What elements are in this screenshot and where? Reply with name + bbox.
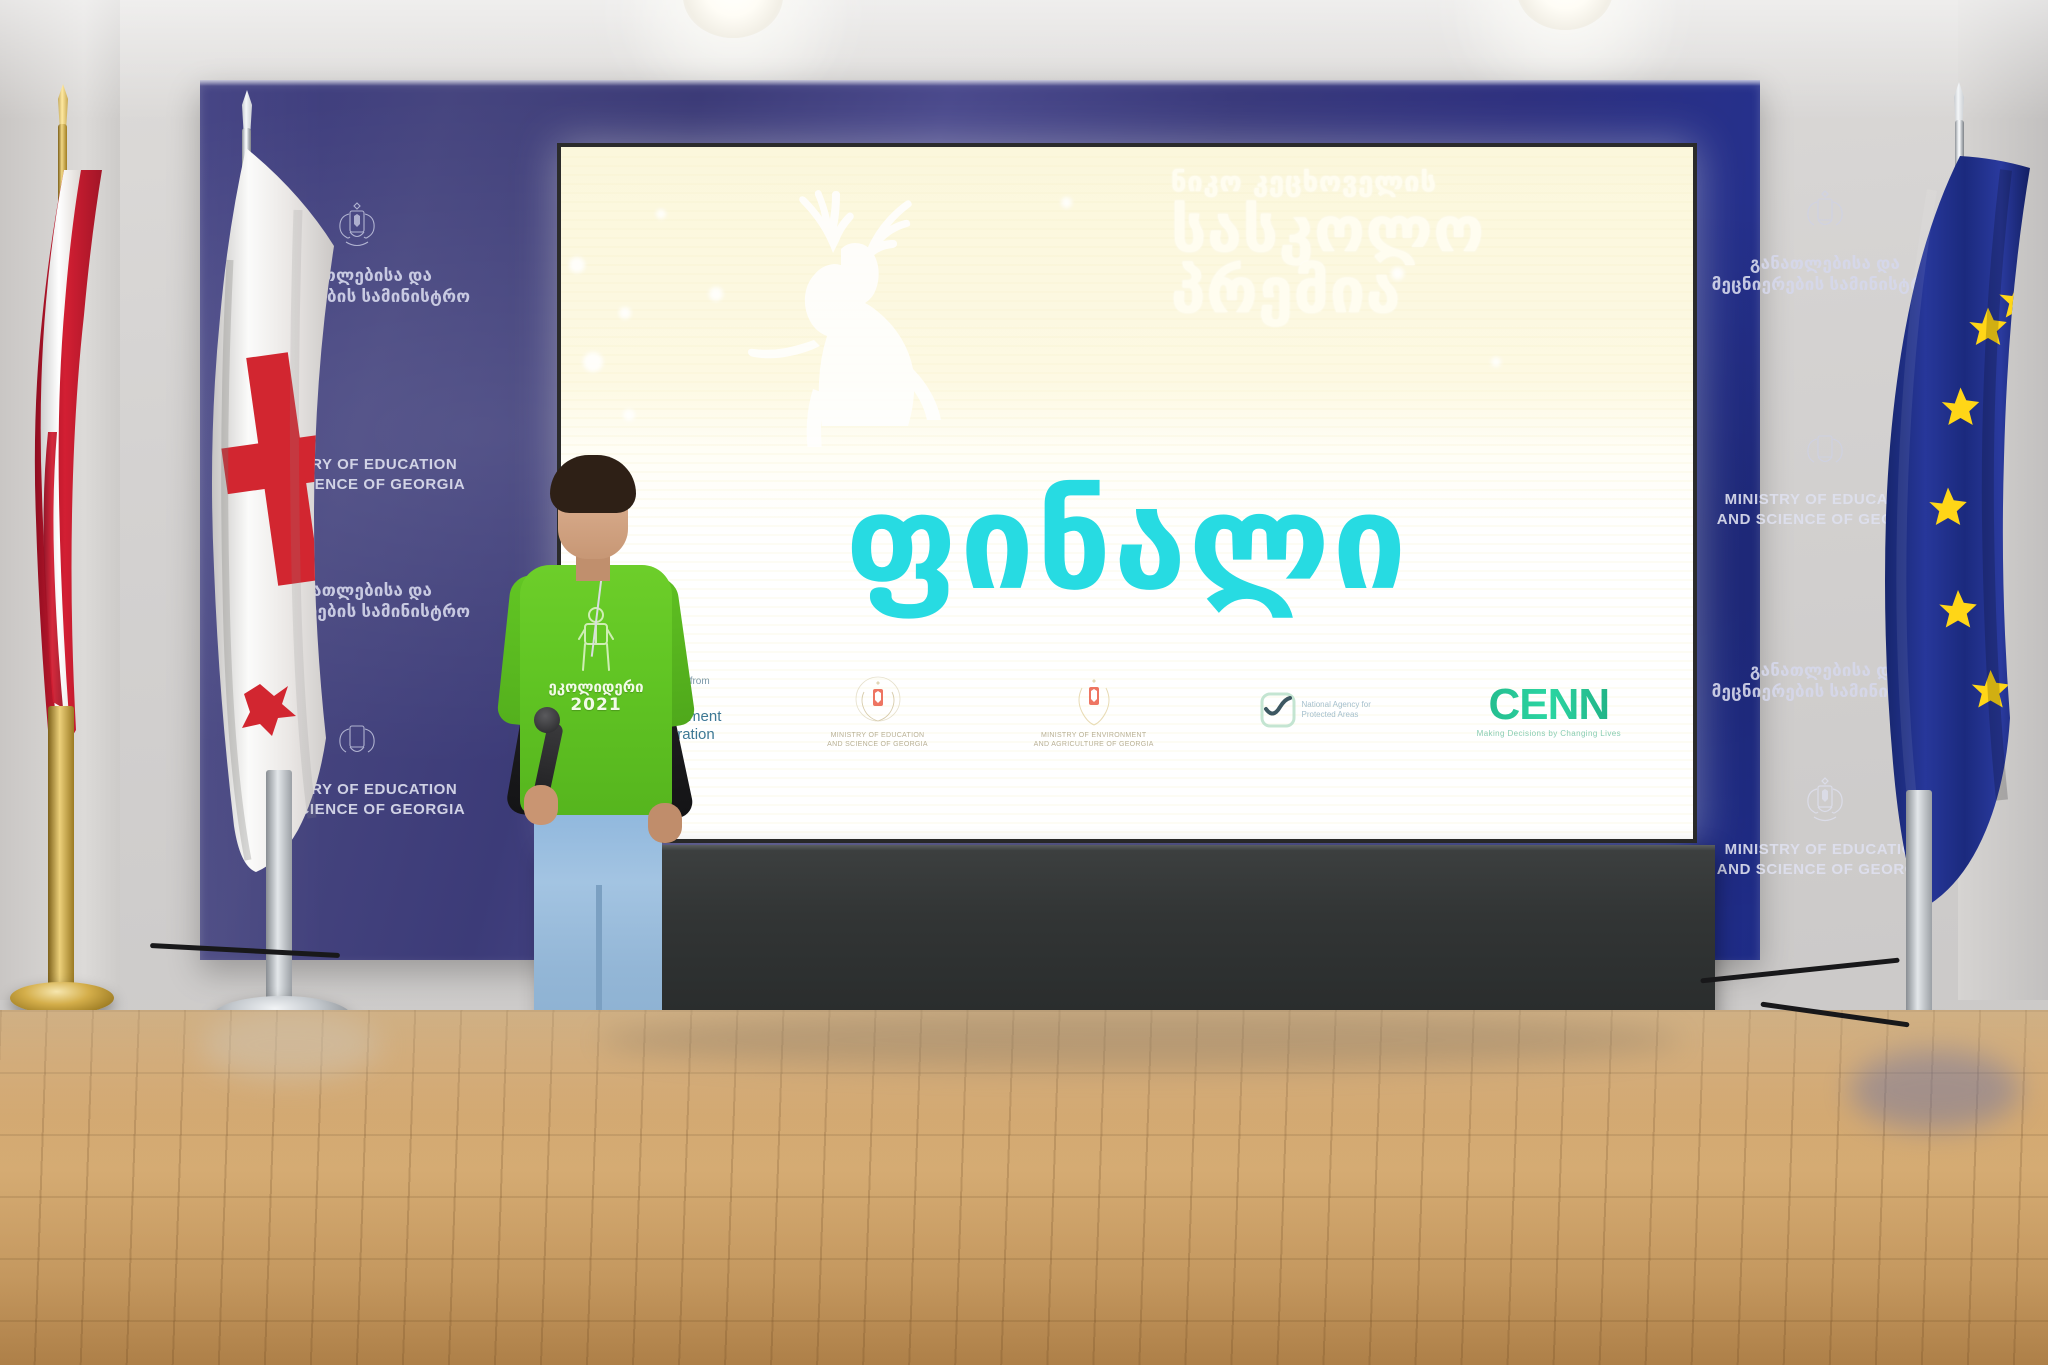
sponsor-national-agency-text: National Agency for Protected Areas: [1302, 700, 1371, 721]
screen-main-text: ფინალი: [561, 477, 1693, 609]
georgia-flag: [170, 140, 380, 880]
screen-heading: ნიკო კეცხოველის სასკოლო პრემია: [1171, 169, 1651, 322]
backdrop-top-highlight: [200, 80, 1760, 86]
bokeh-dot: [1061, 197, 1072, 208]
deer-silhouette-icon: [681, 157, 1011, 447]
austria-flag: [20, 170, 120, 750]
presenter-hand-left: [524, 785, 558, 825]
sponsor-ministry-environment: MINISTRY OF ENVIRONMENT AND AGRICULTURE …: [1034, 672, 1154, 748]
bokeh-dot: [1491, 357, 1501, 367]
sponsor-national-agency-line2: Protected Areas: [1302, 710, 1371, 720]
sponsor-ministry-environment-line1: MINISTRY OF ENVIRONMENT: [1041, 732, 1146, 739]
flagstand-shaft-eu: [1906, 790, 1932, 1040]
flagstand-shaft-austria: [48, 706, 74, 1006]
sponsor-cenn-name: CENN: [1488, 683, 1609, 727]
european-union-flag: [1820, 150, 2048, 920]
screen-base-top-edge: [545, 845, 1715, 851]
sponsor-national-agency-line1: National Agency for: [1302, 700, 1371, 710]
presenter-hand-right: [648, 803, 682, 843]
bokeh-dot: [619, 307, 631, 319]
presenter-tshirt-label: ეკოლიდერი: [520, 679, 672, 696]
wooden-floor: [0, 1010, 2048, 1365]
sponsor-ministry-education-line1: MINISTRY OF EDUCATION: [831, 732, 925, 739]
stage-photo: განათლებისა და მეცნიერების სამინისტრო MI…: [0, 0, 2048, 1365]
sponsor-ministry-environment-line2: AND AGRICULTURE OF GEORGIA: [1034, 741, 1154, 748]
floor-reflection-georgia-flag: [200, 1010, 380, 1080]
georgia-flag-cloth: [170, 140, 380, 880]
georgia-coat-of-arms-icon: [855, 672, 901, 730]
bokeh-dot: [583, 352, 603, 372]
sponsor-logo-row: with support from Austrian Development C…: [561, 655, 1693, 765]
bokeh-dot: [656, 209, 666, 219]
flagstand-shaft-georgia: [266, 770, 292, 1020]
sponsor-ministry-education: MINISTRY OF EDUCATION AND SCIENCE OF GEO…: [827, 672, 928, 748]
austria-flag-cloth: [20, 170, 120, 750]
bokeh-dot: [569, 257, 585, 273]
eu-flag-cloth: [1820, 150, 2048, 920]
georgia-coat-of-arms-icon: [1071, 672, 1117, 730]
sponsor-national-agency: National Agency for Protected Areas: [1260, 692, 1371, 728]
screen-heading-line3: პრემია: [1171, 261, 1651, 322]
sponsor-cenn: CENN Making Decisions by Changing Lives: [1477, 683, 1621, 738]
presenter-hair: [550, 455, 636, 513]
projection-screen-frame: ნიკო კეცხოველის სასკოლო პრემია ფინალი wi…: [557, 143, 1697, 843]
bokeh-dot: [623, 409, 635, 421]
protected-areas-logo-icon: [1260, 692, 1296, 728]
projection-screen: ნიკო კეცხოველის სასკოლო პრემია ფინალი wi…: [561, 147, 1693, 839]
floor-reflection-eu-flag: [1850, 1050, 2020, 1130]
sponsor-ministry-education-line2: AND SCIENCE OF GEORGIA: [827, 741, 928, 748]
screen-heading-line2: სასკოლო: [1171, 200, 1651, 261]
sponsor-cenn-tagline: Making Decisions by Changing Lives: [1477, 729, 1621, 738]
screen-heading-line1: ნიკო კეცხოველის: [1171, 169, 1651, 196]
floor-reflection-stage: [600, 1010, 1680, 1070]
